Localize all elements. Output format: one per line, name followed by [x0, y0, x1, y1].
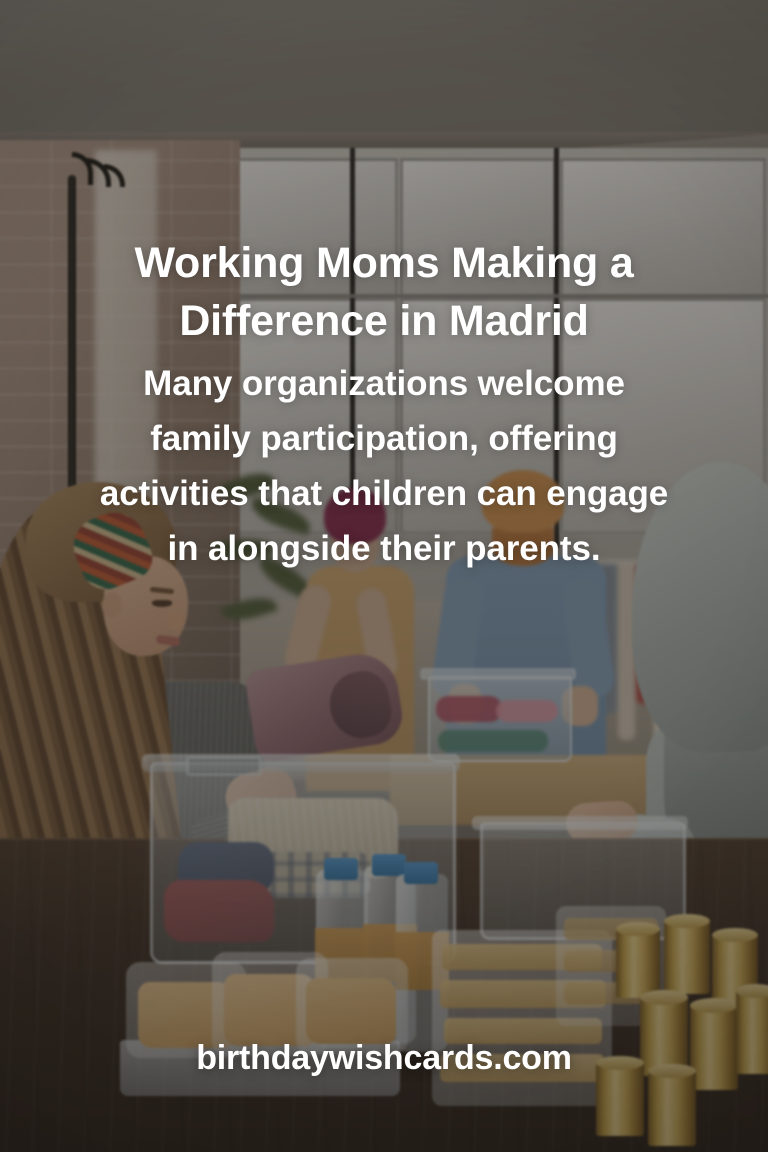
background-photo — [0, 0, 768, 1152]
donated-clothing — [436, 696, 502, 722]
tin-can-lid — [712, 928, 758, 942]
tin-can — [664, 920, 710, 994]
tin-can-lid — [616, 922, 660, 936]
ceiling — [0, 0, 768, 150]
page-title: Working Moms Making a Difference in Madr… — [64, 234, 704, 350]
background-bin-rim — [420, 668, 576, 680]
bottle-cap — [324, 858, 358, 880]
tin-can-lid — [640, 990, 688, 1005]
tin-can-lid — [736, 984, 768, 998]
tin-can-lid — [664, 914, 710, 928]
tin-can — [648, 1070, 696, 1146]
donated-clothing — [496, 700, 558, 722]
tin-can — [616, 928, 660, 998]
bottle-cap — [404, 862, 438, 884]
site-watermark[interactable]: birthdaywishcards.com — [0, 1036, 768, 1080]
storage-bin-right-rim — [472, 816, 688, 830]
tin-can-lid — [690, 998, 738, 1013]
social-share-card: Working Moms Making a Difference in Madr… — [0, 0, 768, 1152]
bottle-cap — [372, 854, 406, 876]
donated-clothing — [438, 730, 548, 752]
body-text: Many organizations welcome family partic… — [92, 356, 676, 576]
storage-bin-handle — [186, 756, 262, 776]
bread-loaf — [306, 978, 396, 1044]
